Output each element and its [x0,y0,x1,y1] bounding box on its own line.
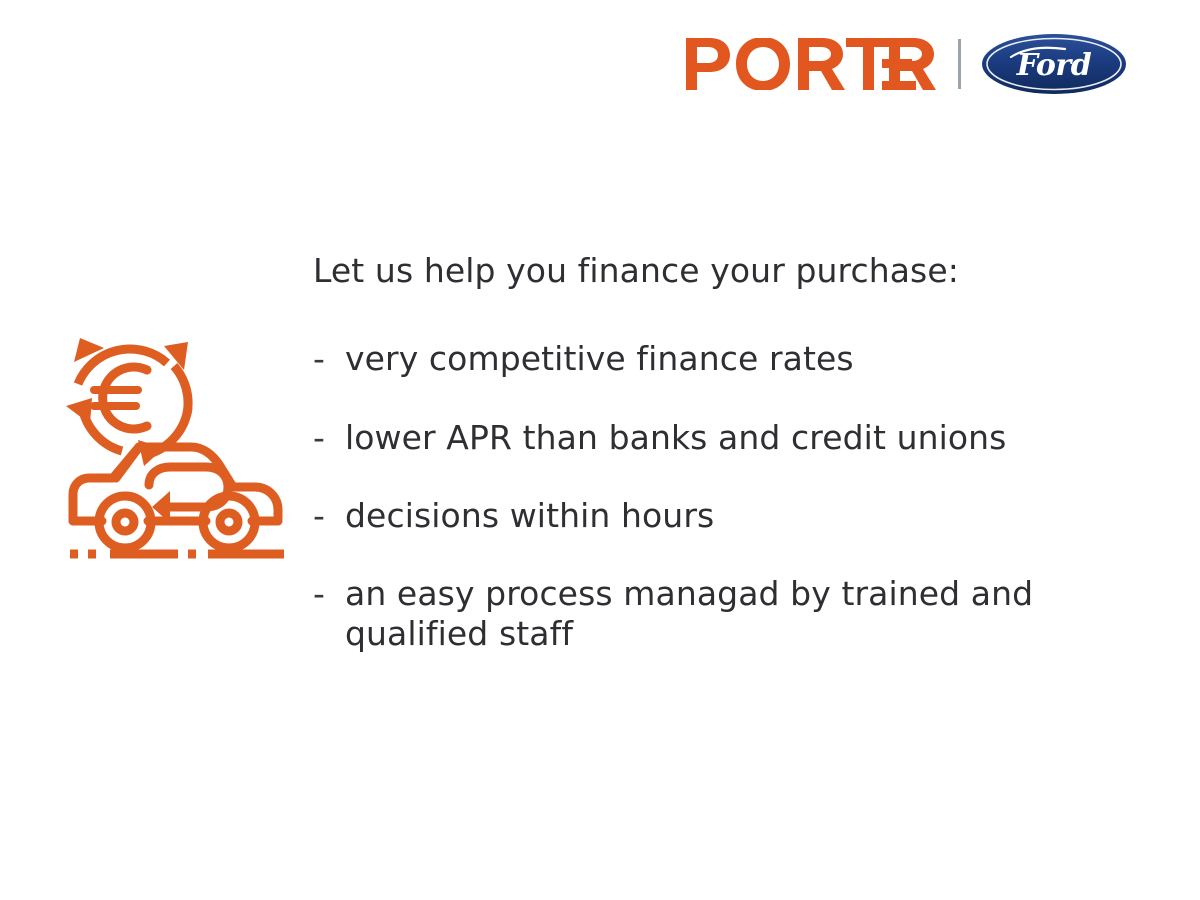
list-item: - lower APR than banks and credit unions [313,418,1113,458]
headline: Let us help you finance your purchase: [313,250,1113,291]
list-item-label: very competitive finance rates [345,339,854,379]
porter-logotype-icon [686,38,936,90]
finance-benefits-list: - very competitive finance rates - lower… [313,339,1113,654]
list-item-label: an easy process managad by trained and q… [345,574,1075,655]
porter-wordmark [686,38,936,90]
svg-text:Ford: Ford [1016,48,1092,83]
list-item: - very competitive finance rates [313,339,1113,379]
bullet-marker: - [313,339,345,379]
slide-canvas: Ford [0,0,1200,900]
finance-copy-block: Let us help you finance your purchase: -… [313,250,1113,655]
ford-oval-icon: Ford [981,33,1127,95]
brand-logo-lockup: Ford [686,28,1127,100]
bullet-marker: - [313,574,345,614]
list-item: - decisions within hours [313,496,1113,536]
list-item-label: decisions within hours [345,496,714,536]
list-item-label: lower APR than banks and credit unions [345,418,1006,458]
logo-divider [958,39,961,89]
list-item: - an easy process managad by trained and… [313,574,1113,655]
car-finance-euro-icon [56,322,298,574]
bullet-marker: - [313,496,345,536]
bullet-marker: - [313,418,345,458]
ford-logo: Ford [981,33,1127,95]
